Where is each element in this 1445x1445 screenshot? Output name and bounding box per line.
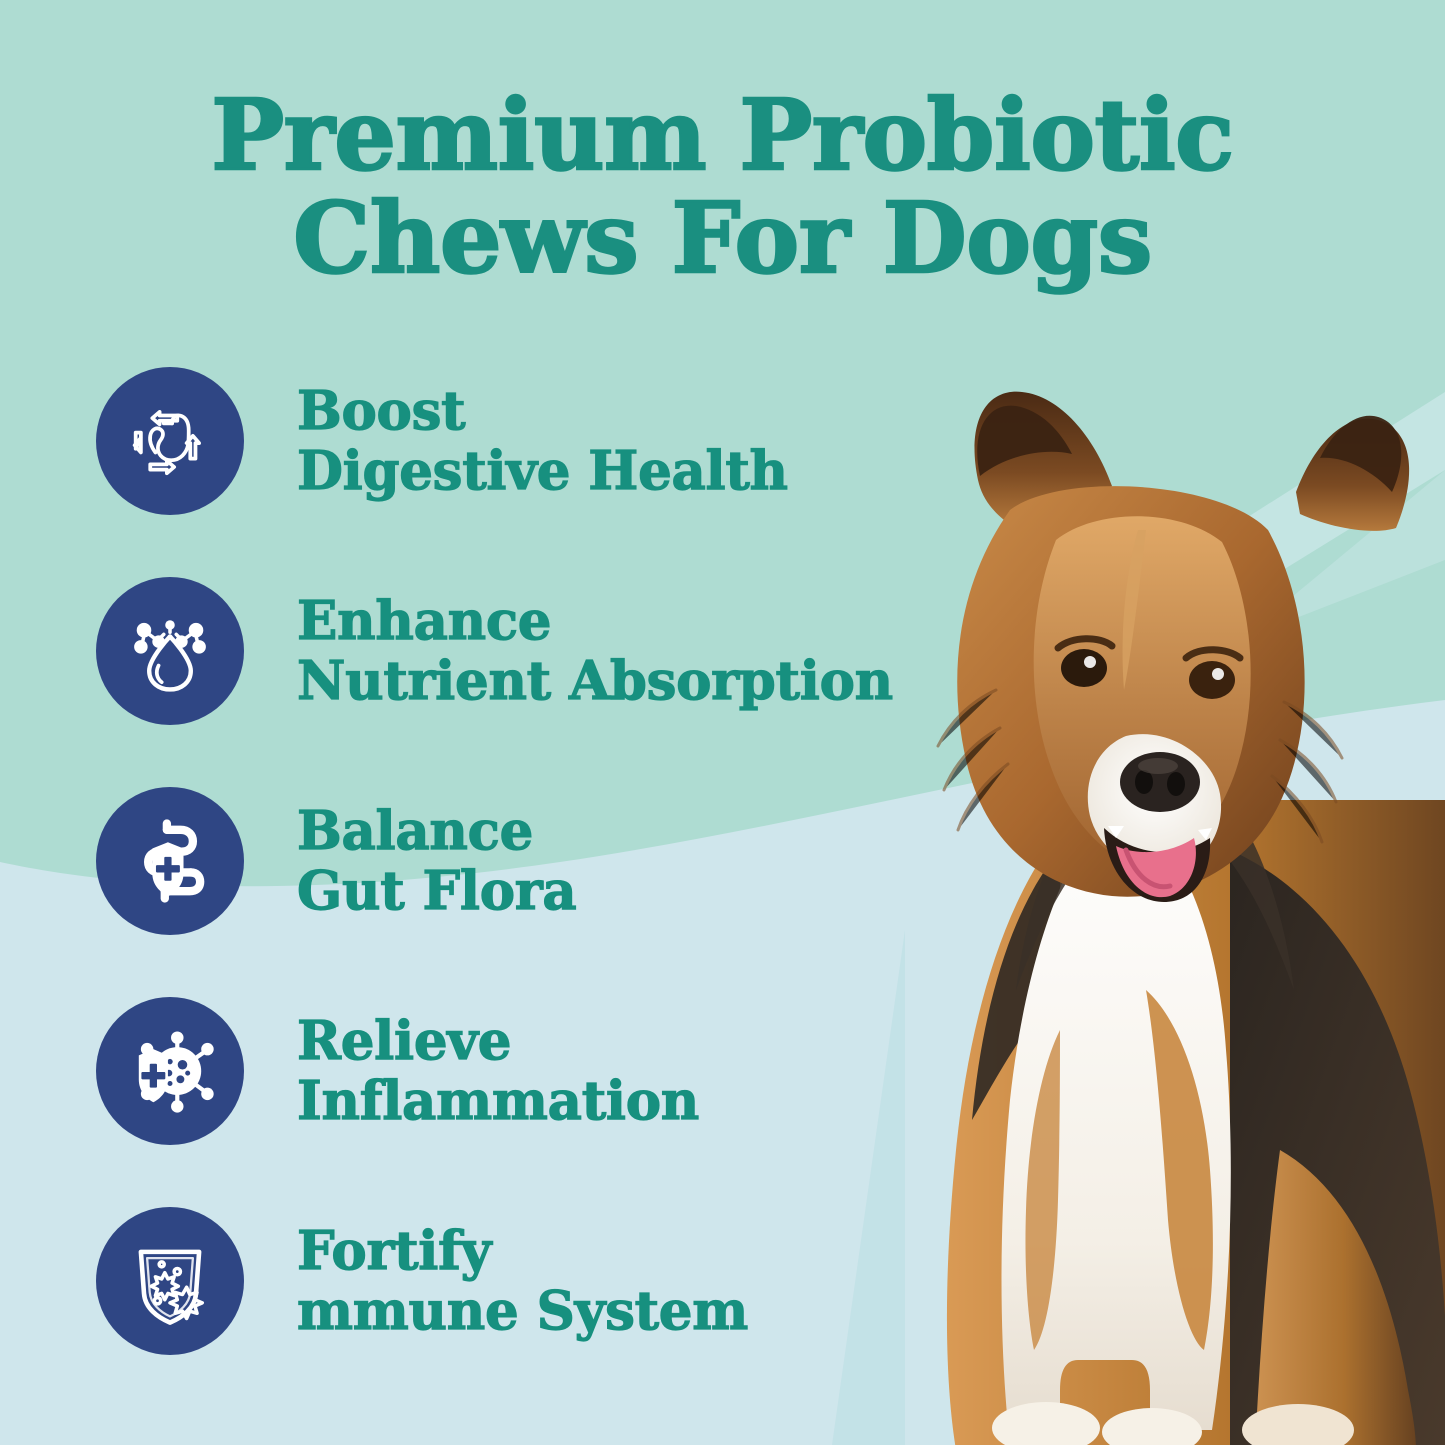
page-title-line-1: Premium Probiotic — [0, 84, 1445, 187]
infographic-canvas: Premium Probiotic Chews For Dogs — [0, 0, 1445, 1445]
feature-line-2: Inflammation — [297, 1071, 699, 1131]
page-title-line-2: Chews For Dogs — [0, 187, 1445, 290]
feature-text: Fortify mmune System — [297, 1221, 748, 1342]
feature-line-1: Fortify — [297, 1221, 748, 1281]
dog-nostril-right — [1167, 772, 1185, 796]
feature-line-1: Balance — [297, 801, 576, 861]
feature-icon-badge — [96, 997, 244, 1145]
feature-icon-badge — [96, 787, 244, 935]
feature-text: Relieve Inflammation — [297, 1011, 699, 1132]
page-title: Premium Probiotic Chews For Dogs — [0, 84, 1445, 290]
feature-line-2: Digestive Health — [297, 441, 788, 501]
dog-eye-right — [1189, 661, 1235, 699]
dog-eye-left-highlight — [1084, 656, 1096, 668]
feature-text: Balance Gut Flora — [297, 801, 576, 922]
dog-eye-right-highlight — [1212, 668, 1224, 680]
feature-line-1: Relieve — [297, 1011, 699, 1071]
stomach-arrows-icon — [118, 389, 222, 493]
droplet-molecule-icon — [118, 599, 222, 703]
dog-nose-highlight — [1138, 758, 1178, 774]
feature-line-2: mmune System — [297, 1281, 748, 1341]
feature-icon-badge — [96, 1207, 244, 1355]
feature-icon-badge — [96, 577, 244, 725]
dog-eye-left — [1061, 649, 1107, 687]
feature-line-2: Gut Flora — [297, 861, 576, 921]
shield-virus-icon — [118, 1019, 222, 1123]
feature-line-1: Boost — [297, 381, 788, 441]
feature-text: Boost Digestive Health — [297, 381, 788, 502]
feature-icon-badge — [96, 367, 244, 515]
shield-intestine-icon — [118, 809, 222, 913]
dog-photo — [760, 330, 1445, 1445]
dog-nostril-left — [1135, 770, 1153, 794]
shield-germs-icon — [118, 1229, 222, 1333]
